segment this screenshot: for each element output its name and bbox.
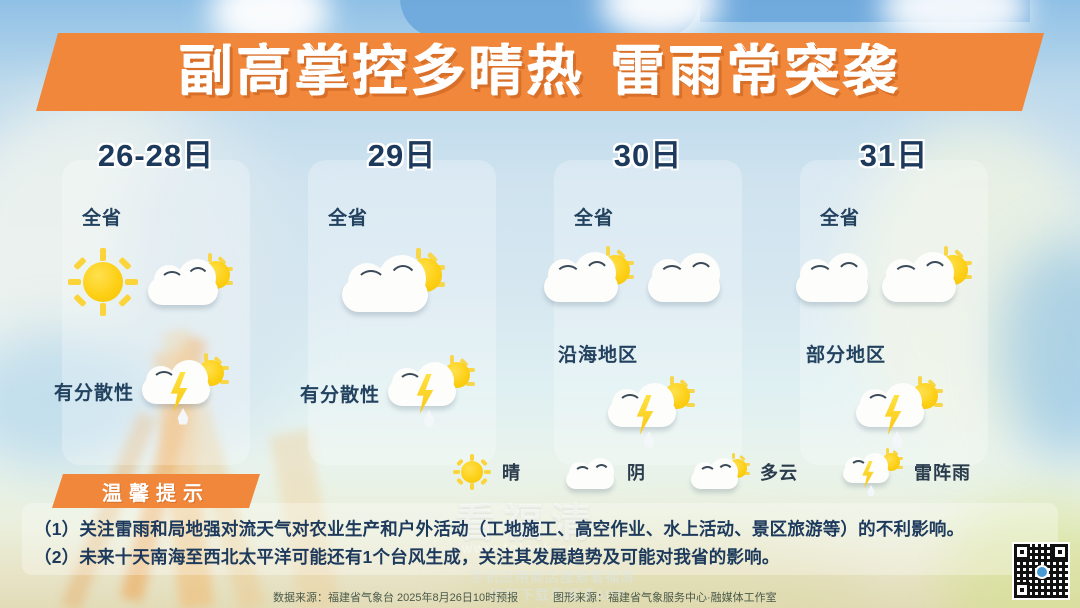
forecast-day-3: 30日 全省 沿海地区 (524, 130, 772, 453)
raindrop-icon (866, 485, 876, 497)
day-date-4: 31日 (770, 130, 1018, 175)
legend-label-partly-cloudy: 多云 (760, 459, 798, 485)
day-mid-row-2: 有分散性 (278, 354, 526, 432)
sun-icon (66, 246, 142, 318)
legend-item-thunderstorm: 雷阵雨 (842, 448, 971, 496)
qr-center-logo (1035, 565, 1049, 579)
legend-label-sunny: 晴 (502, 459, 521, 485)
day-date-3: 30日 (524, 130, 772, 175)
footer-data-source: 数据来源：福建省气象台 2025年8月26日10时预报 (273, 589, 518, 605)
title-banner: 副高掌控多晴热 雷雨常突袭 (36, 33, 1044, 111)
legend-label-thunderstorm: 雷阵雨 (914, 459, 971, 485)
day-region-top-3: 全省 (524, 203, 772, 230)
legend-label-overcast: 阴 (627, 459, 646, 485)
weather-legend: 晴 阴 多 (452, 448, 1015, 496)
partly-cloudy-icon (690, 452, 750, 492)
qr-code-pattern (1014, 544, 1068, 598)
footer-graphic-source: 图形来源：福建省气象服务中心·融媒体工作室 (553, 589, 777, 605)
raindrop-icon (176, 408, 190, 426)
raindrop-icon (890, 431, 904, 449)
day-mid-icons-3 (524, 375, 772, 453)
raindrop-icon (642, 431, 656, 449)
day-date-2: 29日 (278, 130, 526, 175)
thunderstorm-icon (842, 448, 904, 496)
weather-infographic: 副高掌控多晴热 雷雨常突袭 26-28日 全省 (0, 0, 1080, 608)
partly-cloudy-icon (880, 244, 972, 310)
day-top-icons-4 (770, 244, 1018, 310)
cloudy-icon (646, 246, 724, 308)
partly-cloudy-icon (542, 244, 634, 310)
day-date-1: 26-28日 (32, 130, 280, 175)
partly-cloudy-icon (146, 251, 232, 313)
title-text-part2: 雷雨常突袭 (611, 45, 901, 99)
day-region-mid-wrap-3: 沿海地区 (524, 340, 772, 367)
qr-eye-tr (1052, 544, 1068, 560)
forecast-day-2: 29日 全省 有分散性 (278, 130, 526, 432)
forecast-day-4: 31日 全省 部分地区 (770, 130, 1018, 453)
day-region-mid-3: 沿海地区 (558, 345, 638, 366)
day-region-mid-4: 部分地区 (806, 345, 886, 366)
thunderstorm-icon (140, 352, 230, 430)
qr-code[interactable] (1012, 542, 1070, 600)
day-region-mid-2: 有分散性 (300, 380, 380, 407)
tips-tag-label: 温馨提示 (102, 477, 210, 506)
cloudy-icon (794, 246, 872, 308)
day-mid-icons-4 (770, 375, 1018, 453)
qr-eye-bl (1014, 582, 1030, 598)
day-region-mid-1: 有分散性 (54, 378, 134, 405)
tip-line-1: （1）关注雷雨和局地强对流天气对农业生产和户外活动（工地施工、高空作业、水上活动… (34, 516, 964, 541)
day-mid-row-1: 有分散性 (32, 352, 280, 430)
forecast-day-1: 26-28日 全省 (32, 130, 280, 430)
cloudy-icon (565, 453, 617, 491)
raindrop-icon (422, 410, 436, 428)
day-region-top-4: 全省 (770, 203, 1018, 230)
day-top-icons-3 (524, 244, 772, 310)
day-top-icons-2 (278, 246, 526, 322)
tips-tag: 温馨提示 (52, 474, 260, 508)
legend-item-partly-cloudy: 多云 (690, 452, 798, 492)
day-region-top-2: 全省 (278, 203, 526, 230)
thunderstorm-icon (854, 375, 944, 453)
day-top-icons-1 (32, 246, 280, 318)
day-region-mid-wrap-4: 部分地区 (770, 340, 1018, 367)
day-region-top-1: 全省 (32, 203, 280, 230)
tip-line-2: （2）未来十天南海至西北太平洋可能还有1个台风生成，关注其发展趋势及可能对我省的… (34, 544, 780, 569)
title-text-part1: 副高掌控多晴热 (179, 45, 585, 99)
legend-item-sunny: 晴 (452, 453, 521, 491)
qr-eye-tl (1014, 544, 1030, 560)
thunderstorm-icon (606, 375, 696, 453)
sun-icon (452, 453, 492, 491)
thunderstorm-icon (386, 354, 476, 432)
partly-cloudy-icon (340, 246, 444, 322)
legend-item-overcast: 阴 (565, 453, 646, 491)
